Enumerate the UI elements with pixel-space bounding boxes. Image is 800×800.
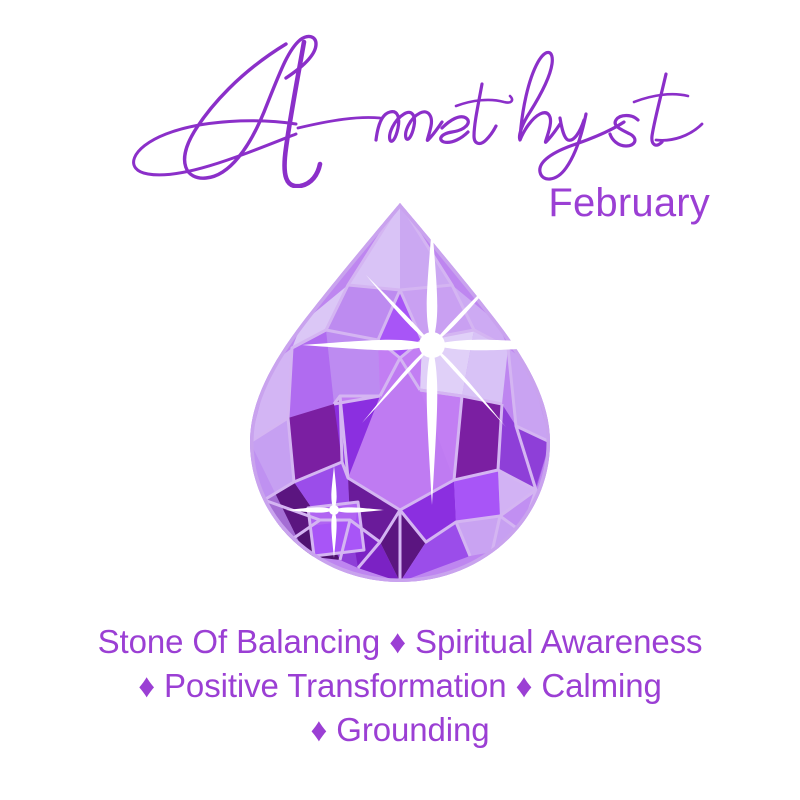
amethyst-gemstone-icon bbox=[230, 190, 570, 595]
attribute-line-3: ♦ Grounding bbox=[0, 708, 800, 752]
gem-facets bbox=[230, 190, 570, 595]
page-title: Amethyst bbox=[0, 28, 800, 188]
birthstone-poster: Amethyst bbox=[0, 0, 800, 800]
attribute-text-3: ♦ Grounding bbox=[310, 711, 489, 748]
gem-svg bbox=[230, 190, 570, 595]
attribute-text-1: Stone Of Balancing ♦ Spiritual Awareness bbox=[98, 623, 703, 660]
attribute-text-2: ♦ Positive Transformation ♦ Calming bbox=[138, 667, 662, 704]
attribute-line-1: Stone Of Balancing ♦ Spiritual Awareness bbox=[0, 620, 800, 664]
attribute-line-2: ♦ Positive Transformation ♦ Calming bbox=[0, 664, 800, 708]
title-script-amethyst: Amethyst bbox=[90, 28, 710, 188]
attributes-block: Stone Of Balancing ♦ Spiritual Awareness… bbox=[0, 620, 800, 752]
